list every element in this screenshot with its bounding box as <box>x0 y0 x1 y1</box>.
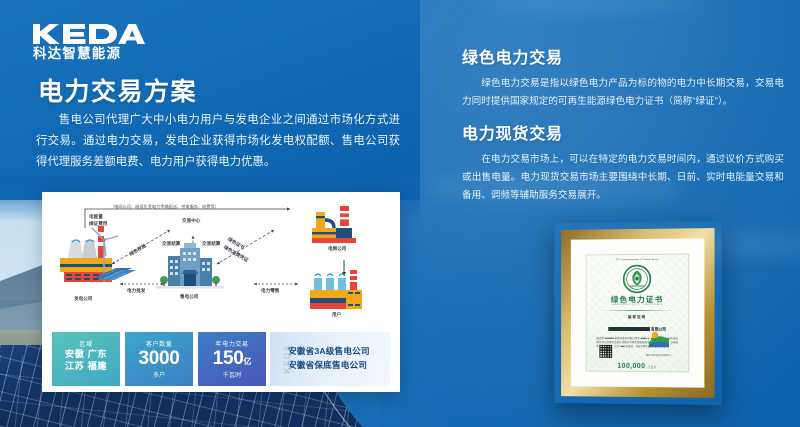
diagram-graphics <box>42 192 400 332</box>
section-green-power-trading: 绿色电力交易 绿色电力交易是指以绿色电力产品为标的物的电力中长期交易，交易电力同… <box>462 44 784 111</box>
diagram-label-gen-co: 发电公司 <box>74 296 92 302</box>
stat-sub: 千瓦时 <box>223 370 242 379</box>
certificate-company-line: 有限公司 <box>587 327 689 333</box>
certificate-mat: 编号 ■■■■■■■■■■■■ 证书 ■■■■-■■-■■ 绿色电力证书 GRE… <box>571 238 705 387</box>
poster-canvas: 科达智慧能源 电力交易方案 售电公司代理广大中小电力用户与发电企业之间通过市场化… <box>0 0 800 427</box>
diagram-label-wholesale: 电力批发 <box>127 288 145 294</box>
diagram-label-retail: 电力零售 <box>261 288 279 294</box>
stat-tile-customers: 客户数量 3000 多户 <box>125 332 193 386</box>
page-lead-paragraph: 售电公司代理广大中小电力用户与发电企业之间通过市场化方式进行交易。通过电力交易，… <box>36 110 400 173</box>
stat-region-dots: · · · · · · <box>71 374 101 379</box>
qualification-panel: KEDA 安徽省3A级售电公司 安徽省保底售电公司 <box>270 332 390 386</box>
certificate-paper: 编号 ■■■■■■■■■■■■ 证书 ■■■■-■■-■■ 绿色电力证书 GRE… <box>586 254 690 373</box>
diagram-label-grid-co: 电网公司 <box>328 246 346 252</box>
certificate-frame-inner: 编号 ■■■■■■■■■■■■ 证书 ■■■■-■■-■■ 绿色电力证书 GRE… <box>561 228 714 398</box>
keda-watermark: KEDA <box>282 344 292 374</box>
diagram-label-user: 用户 <box>332 312 341 318</box>
certificate-amount-unit: 千瓦时 <box>648 366 657 369</box>
qualification-line-1: 安徽省3A级售电公司 <box>288 345 390 359</box>
issuer-emblem-icon <box>648 330 670 348</box>
certificate-photo: 编号 ■■■■■■■■■■■■ 证书 ■■■■-■■-■■ 绿色电力证书 GRE… <box>554 221 721 405</box>
certificate-frame-outer: 编号 ■■■■■■■■■■■■ 证书 ■■■■-■■-■■ 绿色电力证书 GRE… <box>554 221 721 405</box>
diagram-label-trading-center: 交易中心 <box>182 218 200 224</box>
power-trading-diagram: （电网公司：继续负责电力传输配送、供电服务、收费等） 电能量 绿证费用 交易中心… <box>42 192 400 332</box>
stat-value: 3000 <box>138 349 179 369</box>
certificate-divider <box>600 310 674 311</box>
stat-unit: 亿 <box>244 357 252 366</box>
stat-tile-annual-volume: 年电力交易 150亿 千瓦时 <box>198 332 266 386</box>
page-title: 电力交易方案 <box>38 72 197 108</box>
certificate-subtitle: 碳炭证明 <box>587 315 689 320</box>
section-body: 在电力交易市场上，可以在特定的电力交易时间内，通过议价方式购买或出售电量。电力现… <box>462 151 784 206</box>
certificate-stamp: 国家可再生能源信息管理中心 <box>646 330 672 357</box>
section-heading: 电力现货交易 <box>462 120 784 144</box>
section-spot-trading: 电力现货交易 在电力交易市场上，可以在特定的电力交易时间内，通过议价方式购买或出… <box>462 120 784 206</box>
stat-caption: 客户数量 <box>146 339 172 348</box>
brand-logo[interactable]: 科达智慧能源 <box>33 22 145 61</box>
stat-caption: 年电力交易 <box>216 339 249 348</box>
certificate-issuer: 国家可再生能源信息管理中心 <box>646 354 672 357</box>
stat-value-wrap: 150亿 <box>213 349 252 369</box>
certificate-amount-value: 100,000 <box>617 363 645 370</box>
diagram-label-green-fee: 绿证费用 <box>89 221 107 227</box>
stat-tile-region: 区域 安徽 广东 江苏 福建 · · · · · · <box>52 332 120 386</box>
qr-code-icon <box>598 344 613 359</box>
diagram-note-grid: （电网公司：继续负责电力传输配送、供电服务、收费等） <box>110 204 219 209</box>
brand-logo-cn: 科达智慧能源 <box>33 47 145 61</box>
qualification-line-2: 安徽省保底售电公司 <box>288 359 390 373</box>
stat-sub: 多户 <box>153 370 165 379</box>
section-body: 绿色电力交易是指以绿色电力产品为标的物的电力中长期交易，交易电力同时提供国家规定… <box>462 75 784 111</box>
certificate-seal-icon <box>622 264 652 294</box>
stat-value: 150 <box>213 348 244 369</box>
keda-logo-icon <box>33 22 145 46</box>
diagram-label-retail-co: 售电公司 <box>180 294 198 300</box>
stat-region-row1: 安徽 广东 <box>65 349 107 361</box>
section-heading: 绿色电力交易 <box>462 44 784 68</box>
certificate-amount: 100,000 千瓦时 <box>587 363 689 371</box>
stat-caption: 区域 <box>79 339 92 348</box>
content-card: （电网公司：继续负责电力传输配送、供电服务、收费等） 电能量 绿证费用 交易中心… <box>42 192 400 392</box>
redaction-block <box>608 327 650 331</box>
diagram-label-power-qty: 电能量 <box>89 214 103 220</box>
certificate-title-en: GREEN ELECTRICITY CERTIFICATE <box>587 304 689 306</box>
stat-tiles: 区域 安徽 广东 江苏 福建 · · · · · · 客户数量 3000 多户 … <box>52 332 266 386</box>
stat-region-row2: 江苏 福建 <box>65 361 107 373</box>
diagram-label-settlement-right: 交易结算 <box>202 241 220 247</box>
diagram-label-settlement-left: 交易结算 <box>162 241 180 247</box>
